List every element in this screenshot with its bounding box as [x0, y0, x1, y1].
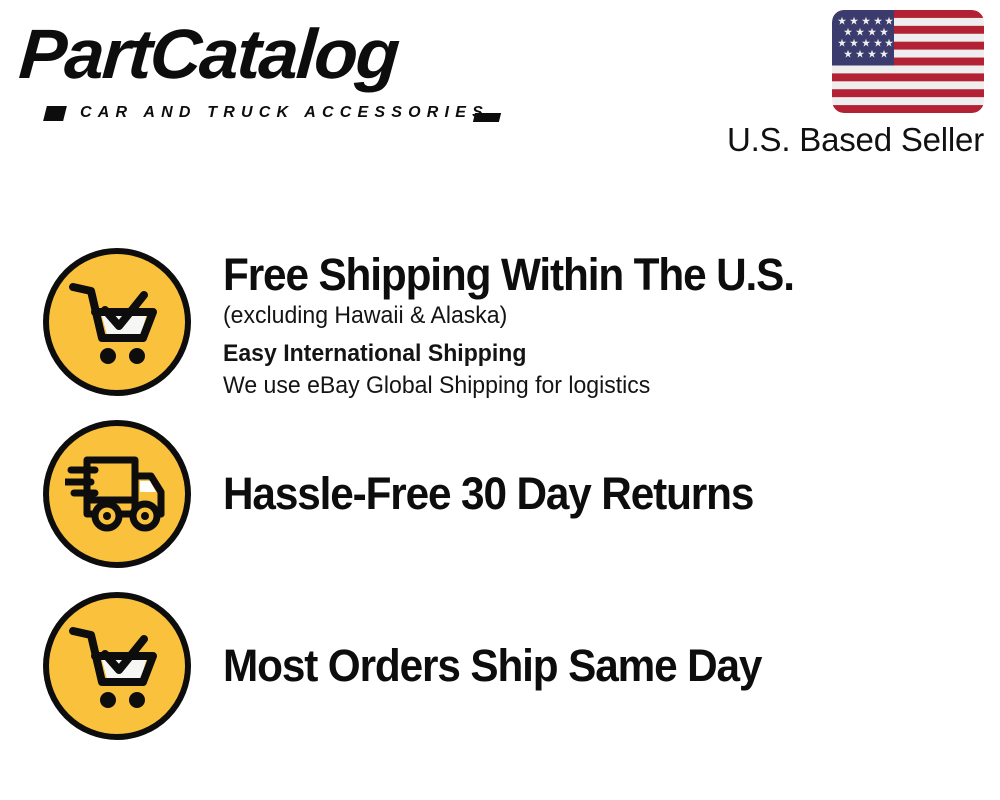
feature-row: Most Orders Ship Same Day — [0, 592, 1000, 740]
feature-subtitle-logistics: We use eBay Global Shipping for logistic… — [223, 370, 806, 402]
feature-text-block: Hassle-Free 30 Day Returns — [223, 469, 787, 519]
feature-row: Free Shipping Within The U.S. (excluding… — [0, 248, 1000, 402]
returns-badge — [43, 420, 191, 568]
us-based-seller-label: U.S. Based Seller — [727, 121, 984, 159]
brand-tagline: CAR AND TRUCK ACCESSORIES — [80, 104, 489, 122]
feature-subtitle-international: Easy International Shipping — [223, 338, 806, 370]
feature-title: Most Orders Ship Same Day — [223, 641, 761, 691]
feature-title: Hassle-Free 30 Day Returns — [223, 469, 753, 519]
feature-text-block: Free Shipping Within The U.S. (excluding… — [223, 248, 830, 402]
feature-row: Hassle-Free 30 Day Returns — [0, 420, 1000, 568]
same-day-ship-badge — [43, 592, 191, 740]
us-based-seller-badge: U.S. Based Seller — [832, 10, 984, 113]
tagline-rule-left — [43, 106, 67, 121]
us-flag-icon — [832, 10, 984, 113]
free-shipping-badge — [43, 248, 191, 396]
brand-logo[interactable]: PartCatalog CAR AND TRUCK ACCESSORIES — [22, 18, 492, 118]
shopping-cart-check-icon — [67, 620, 167, 712]
feature-text-block: Most Orders Ship Same Day — [223, 641, 796, 691]
feature-subtitle-exclusion: (excluding Hawaii & Alaska) — [223, 300, 806, 332]
feature-title: Free Shipping Within The U.S. — [223, 250, 794, 300]
brand-wordmark: PartCatalog — [17, 18, 502, 90]
delivery-truck-icon — [65, 452, 169, 536]
shopping-cart-check-icon — [67, 276, 167, 368]
